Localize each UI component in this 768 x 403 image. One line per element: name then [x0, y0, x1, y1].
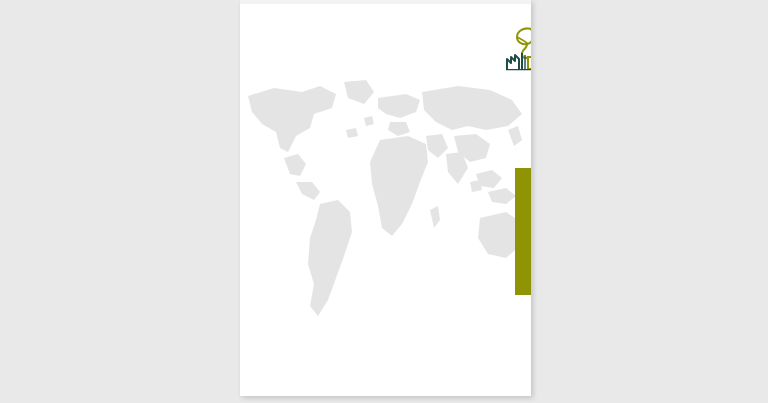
screenshot-canvas: proGIreg [0, 0, 768, 403]
page-top-edge [240, 0, 531, 4]
progireg-logo: proGIreg [504, 24, 531, 72]
world-map-watermark [240, 78, 531, 396]
page-title: Planning and implementing nature-based s… [526, 185, 531, 279]
factory-with-leaf-icon [504, 25, 531, 71]
title-block: Planning and implementing nature-based s… [515, 168, 531, 295]
document-page: proGIreg [240, 0, 531, 396]
